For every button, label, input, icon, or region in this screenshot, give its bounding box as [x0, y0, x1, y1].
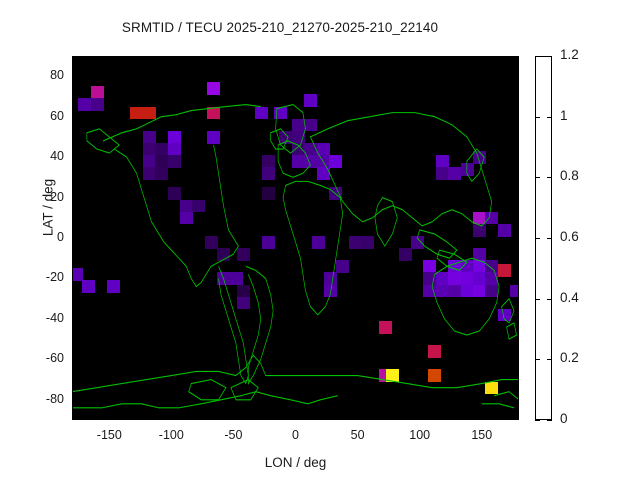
x-tick-label: 150 — [452, 428, 512, 442]
y-tick-label: -20 — [24, 270, 64, 284]
x-tick-label: 0 — [266, 428, 326, 442]
colorbar-tick-label: 0.8 — [560, 168, 579, 183]
colorbar-tick — [535, 420, 540, 421]
colorbar-tick — [535, 177, 540, 178]
colorbar-tick — [547, 420, 552, 421]
x-tick-label: -100 — [141, 428, 201, 442]
y-tick-label: -40 — [24, 311, 64, 325]
x-tick-label: -50 — [203, 428, 263, 442]
x-tick-label: 100 — [390, 428, 450, 442]
x-tick-label: 50 — [328, 428, 388, 442]
y-tick-label: 40 — [24, 149, 64, 163]
y-tick-label: 20 — [24, 190, 64, 204]
y-tick-label: -60 — [24, 351, 64, 365]
colorbar-tick — [547, 238, 552, 239]
colorbar-tick — [547, 117, 552, 118]
figure-canvas: SRMTID / TECU 2025-210_21270-2025-210_22… — [0, 0, 640, 480]
plot-border — [72, 56, 519, 420]
y-tick-label: 80 — [24, 68, 64, 82]
colorbar-tick — [547, 299, 552, 300]
colorbar-tick-label: 1 — [560, 108, 568, 123]
colorbar-tick — [535, 299, 540, 300]
colorbar-tick-label: 1.2 — [560, 47, 579, 62]
y-tick-label: 0 — [24, 230, 64, 244]
colorbar-tick — [535, 238, 540, 239]
y-tick-label: 60 — [24, 109, 64, 123]
colorbar-tick — [535, 359, 540, 360]
colorbar-tick-label: 0 — [560, 411, 568, 426]
x-tick-label: -150 — [79, 428, 139, 442]
colorbar-tick-label: 0.4 — [560, 290, 579, 305]
colorbar-tick — [535, 117, 540, 118]
colorbar-tick — [547, 56, 552, 57]
colorbar-tick — [535, 56, 540, 57]
colorbar-tick — [547, 359, 552, 360]
map-heatmap-plot — [72, 56, 519, 420]
y-tick-label: -80 — [24, 392, 64, 406]
colorbar-tick-label: 0.6 — [560, 229, 579, 244]
y-axis-title: LAT / deg — [41, 148, 56, 268]
chart-title: SRMTID / TECU 2025-210_21270-2025-210_22… — [0, 20, 560, 35]
colorbar-tick-label: 0.2 — [560, 350, 579, 365]
colorbar-tick — [547, 177, 552, 178]
x-axis-title: LON / deg — [72, 455, 519, 470]
